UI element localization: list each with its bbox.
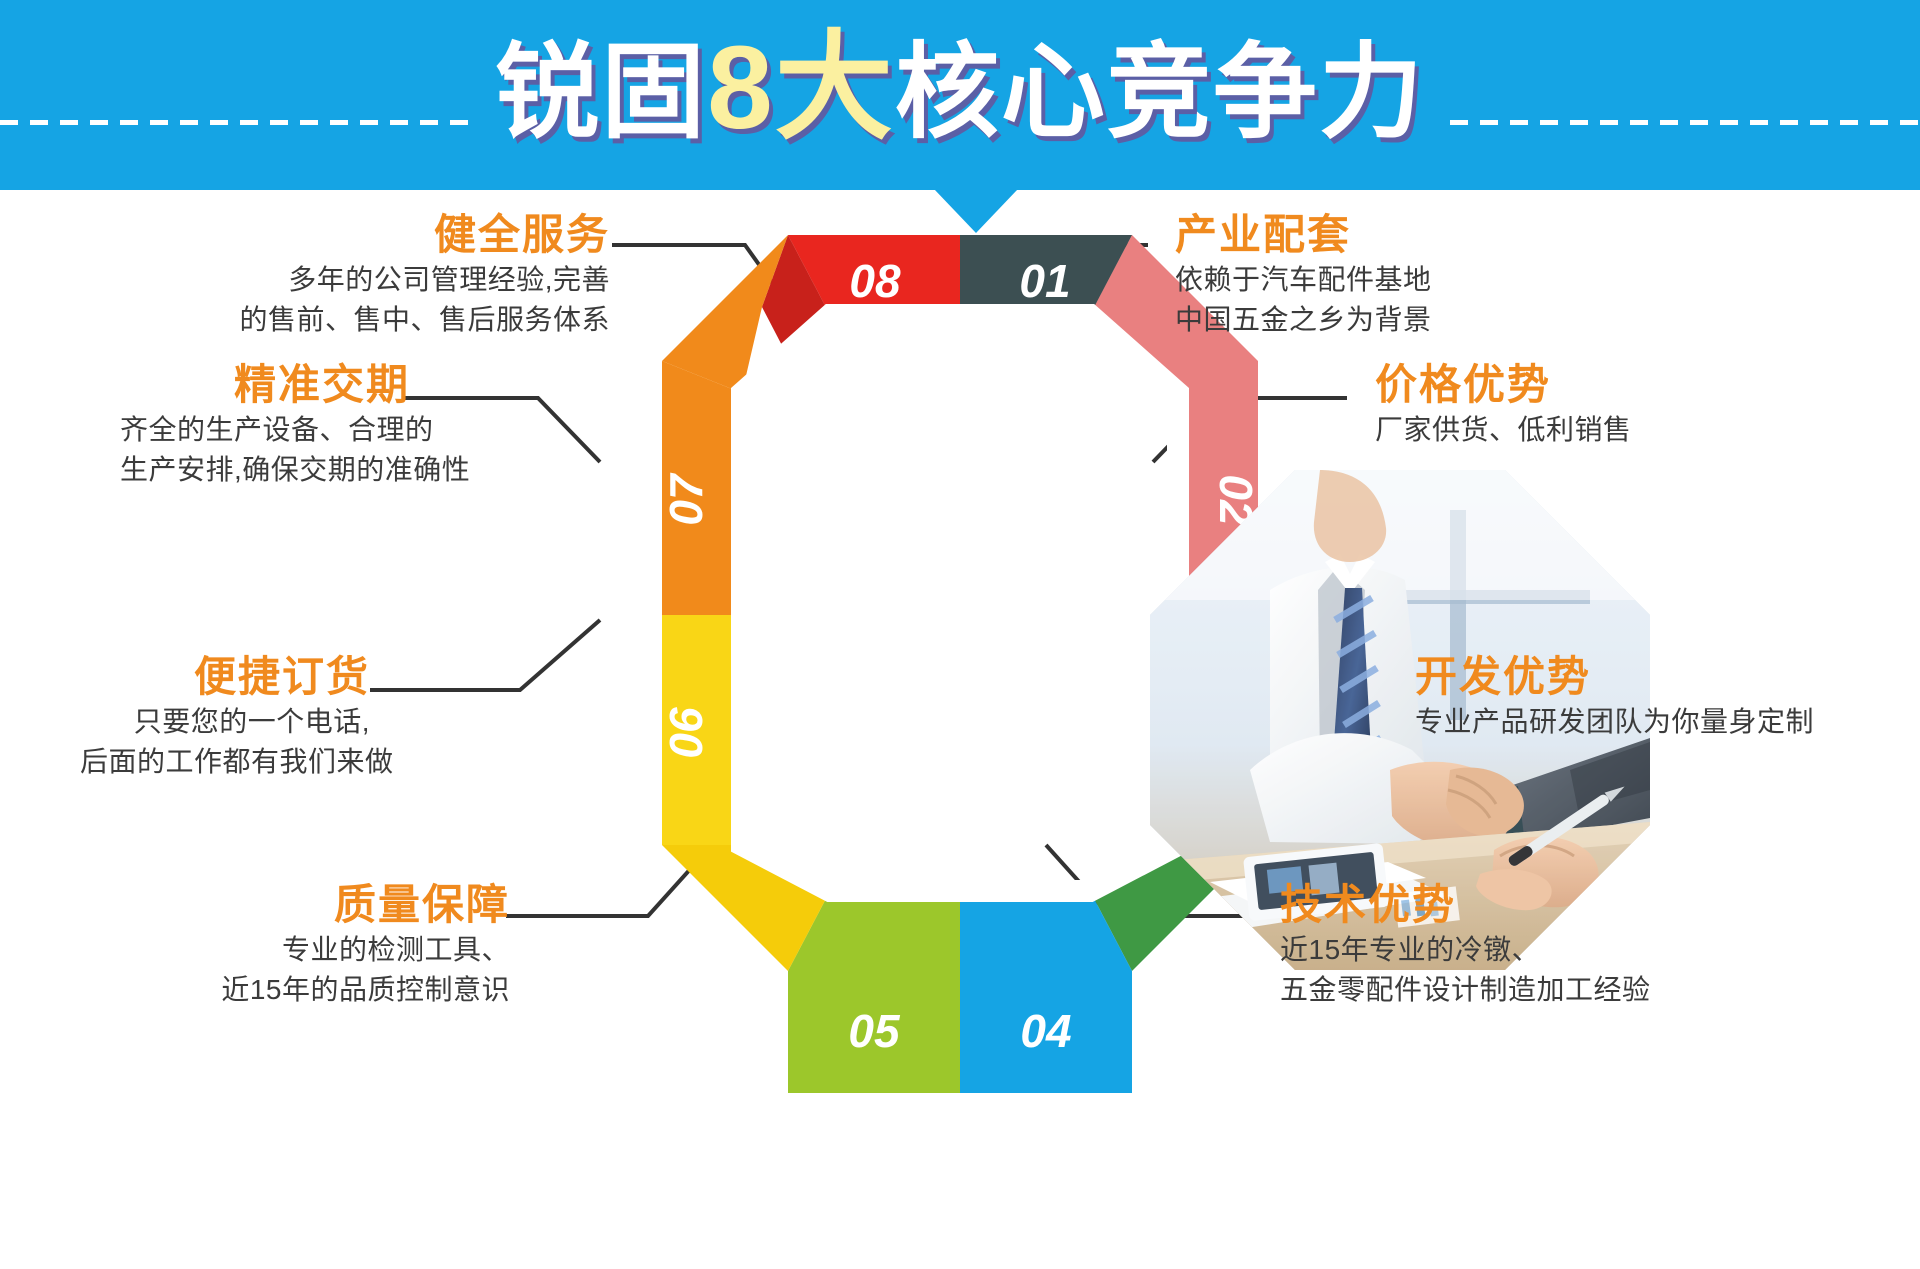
item-title-03: 开发优势 [1415, 652, 1885, 702]
item-label-03[interactable]: 开发优势 专业产品研发团队为你量身定制 [1415, 652, 1885, 742]
ring-number-04: 04 [1020, 1005, 1071, 1057]
item-desc-01-line-1: 依赖于汽车配件基地 [1175, 260, 1635, 300]
item-desc-08-line-1: 多年的公司管理经验,完善 [160, 260, 610, 300]
item-label-01[interactable]: 产业配套 依赖于汽车配件基地 中国五金之乡为背景 [1175, 210, 1635, 340]
item-label-02[interactable]: 价格优势 厂家供货、低利销售 [1375, 360, 1795, 450]
item-desc-08-line-2: 的售前、售中、售后服务体系 [160, 300, 610, 340]
item-desc-04-line-2: 五金零配件设计制造加工经验 [1280, 970, 1840, 1010]
item-title-08: 健全服务 [160, 210, 610, 260]
item-desc-07-line-2: 生产安排,确保交期的准确性 [120, 450, 410, 490]
page-title-part-3: 核心竞争力 [895, 35, 1425, 151]
ring-number-01: 01 [1019, 255, 1070, 307]
ring-number-07: 07 [660, 472, 712, 526]
ring-number-05: 05 [848, 1005, 901, 1057]
item-label-05[interactable]: 质量保障 专业的检测工具、 近15年的品质控制意识 [120, 880, 510, 1010]
item-label-08[interactable]: 健全服务 多年的公司管理经验,完善 的售前、售中、售后服务体系 [160, 210, 610, 340]
item-label-06[interactable]: 便捷订货 只要您的一个电话, 后面的工作都有我们来做 [80, 652, 370, 782]
page-header: 锐固8大核心竞争力 [0, 0, 1920, 190]
octagon-ring: 08 01 02 03 [530, 235, 1390, 1225]
item-desc-06-line-1: 只要您的一个电话, [80, 702, 370, 742]
item-desc-05-line-2: 近15年的品质控制意识 [120, 970, 510, 1010]
infographic-stage: 08 01 02 03 [0, 190, 1920, 1269]
page-title-part-2-highlight: 8大 [707, 22, 895, 154]
item-desc-01-line-2: 中国五金之乡为背景 [1175, 300, 1635, 340]
item-label-04[interactable]: 技术优势 近15年专业的冷镦、 五金零配件设计制造加工经验 [1280, 880, 1840, 1010]
item-title-02: 价格优势 [1375, 360, 1795, 410]
item-label-07[interactable]: 精准交期 齐全的生产设备、合理的 生产安排,确保交期的准确性 [120, 360, 410, 490]
ring-inner-bevel [742, 315, 1178, 891]
item-desc-07-line-1: 齐全的生产设备、合理的 [120, 410, 410, 450]
ring-number-06: 06 [660, 707, 712, 759]
ring-number-08: 08 [849, 255, 901, 307]
item-desc-02-line-1: 厂家供货、低利销售 [1375, 410, 1795, 450]
item-desc-04-line-1: 近15年专业的冷镦、 [1280, 930, 1840, 970]
page-title: 锐固8大核心竞争力 [0, 28, 1920, 153]
item-desc-05-line-1: 专业的检测工具、 [120, 930, 510, 970]
item-title-05: 质量保障 [120, 880, 510, 930]
item-title-07: 精准交期 [120, 360, 410, 410]
item-title-01: 产业配套 [1175, 210, 1635, 260]
item-title-06: 便捷订货 [80, 652, 370, 702]
item-desc-06-line-2: 后面的工作都有我们来做 [80, 742, 370, 782]
page-title-part-1: 锐固 [495, 35, 707, 151]
item-title-04: 技术优势 [1280, 880, 1840, 930]
item-desc-03-line-1: 专业产品研发团队为你量身定制 [1415, 702, 1885, 742]
